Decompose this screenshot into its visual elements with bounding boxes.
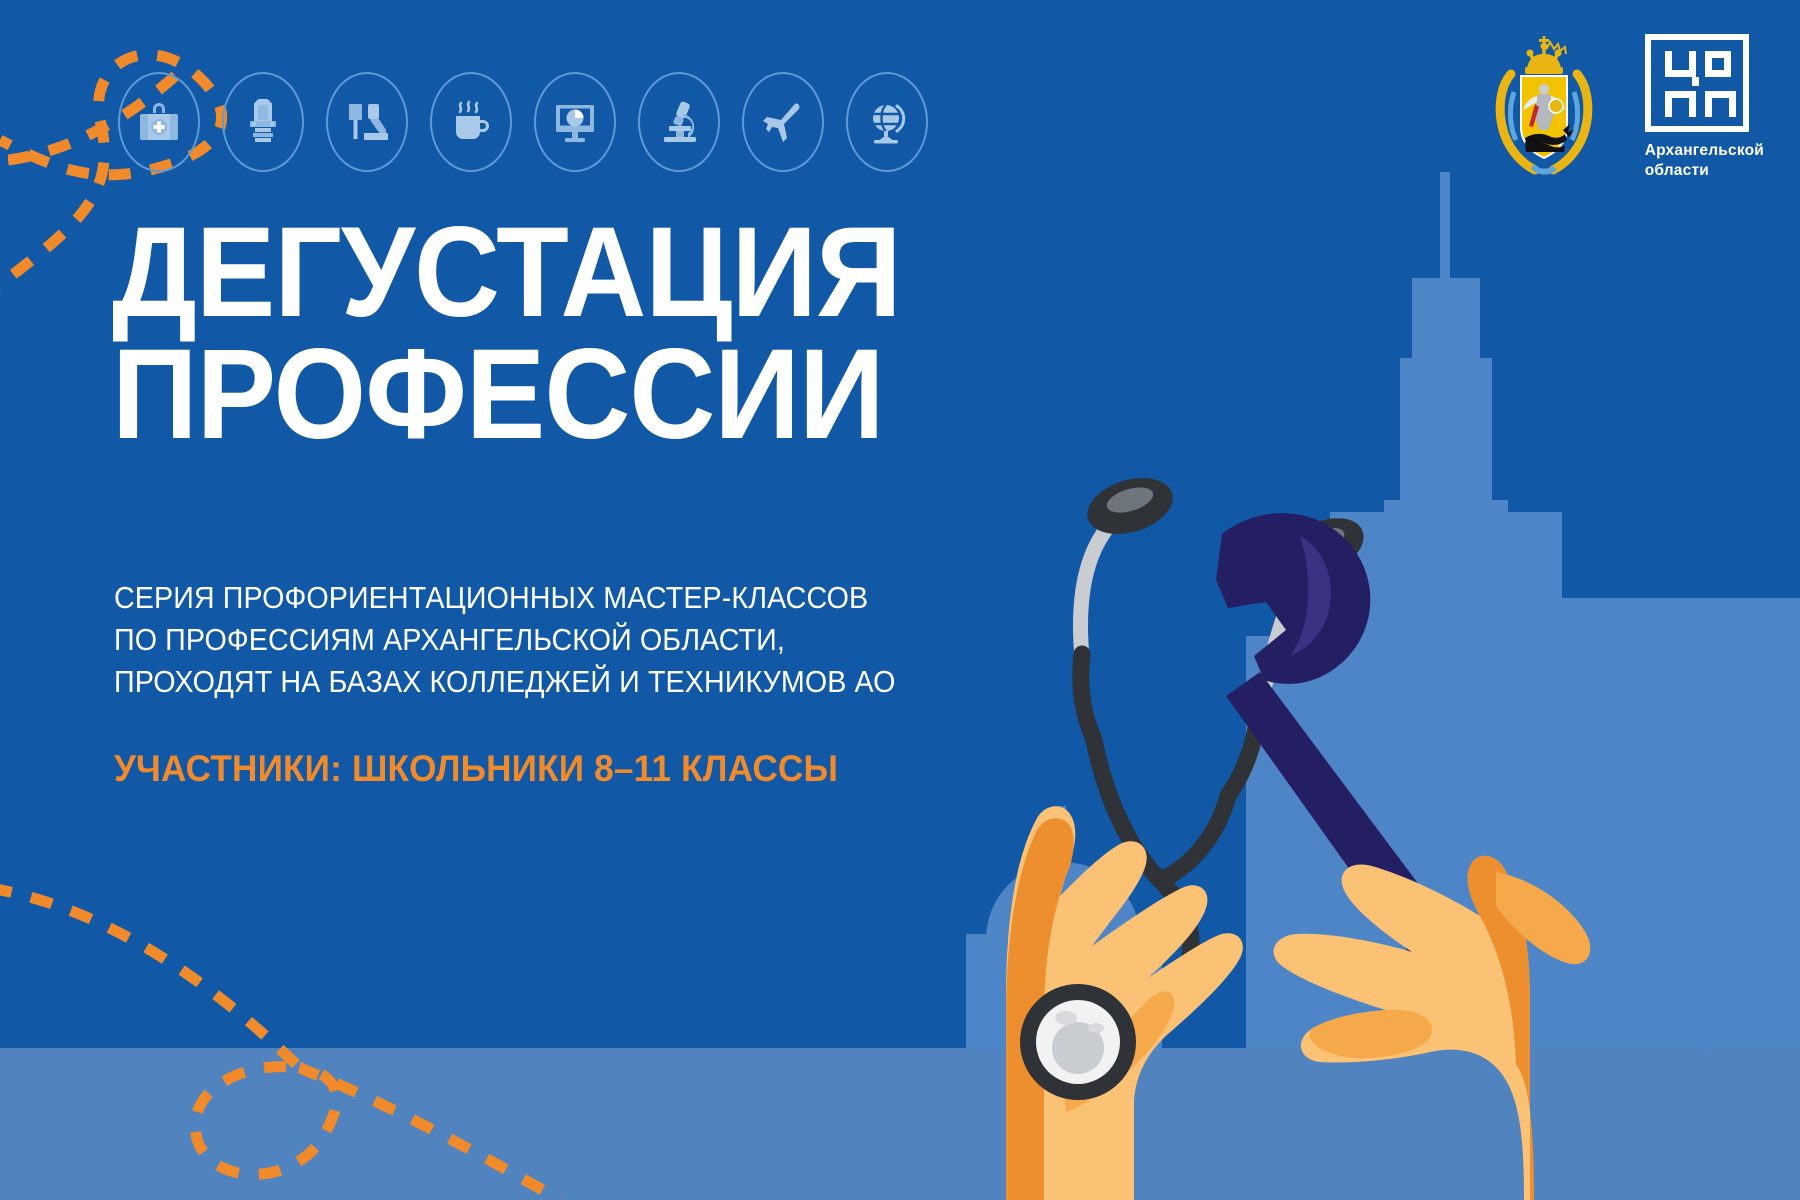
coat-of-arms-icon bbox=[1481, 34, 1607, 184]
icon-bubble-monitor-chart[interactable] bbox=[534, 72, 616, 172]
monitor-chart-icon bbox=[552, 100, 598, 144]
participants-line: УЧАСТНИКИ: ШКОЛЬНИКИ 8–11 КЛАССЫ bbox=[114, 748, 838, 790]
airplane-icon bbox=[760, 99, 806, 145]
poster-canvas: Архангельской области ДЕГУСТАЦИЯ ПРОФЕСС… bbox=[0, 0, 1800, 1200]
logo-group: Архангельской области bbox=[1481, 34, 1764, 184]
hand-holding-wrench bbox=[1274, 856, 1591, 1200]
construction-tools-icon bbox=[344, 100, 390, 144]
icon-bubble-medical-bag[interactable] bbox=[118, 72, 200, 172]
microscope-icon bbox=[656, 99, 702, 145]
icon-bubble-coffee-cup[interactable] bbox=[430, 72, 512, 172]
hands-illustration bbox=[830, 440, 1800, 1200]
copp-logo: Архангельской области bbox=[1645, 34, 1764, 181]
icon-bubble-theodolite[interactable] bbox=[222, 72, 304, 172]
tower-top-silhouette bbox=[1412, 278, 1480, 358]
theodolite-icon bbox=[241, 99, 285, 145]
globe-icon bbox=[864, 99, 910, 145]
title-line-1: ДЕГУСТАЦИЯ bbox=[112, 212, 1061, 334]
icon-bubble-airplane[interactable] bbox=[742, 72, 824, 172]
title-line-2: ПРОФЕССИИ bbox=[112, 334, 1061, 456]
profession-icon-row bbox=[118, 72, 928, 172]
page-title: ДЕГУСТАЦИЯ ПРОФЕССИИ bbox=[112, 212, 1061, 456]
stethoscope-chestpiece bbox=[1020, 984, 1136, 1100]
icon-bubble-construction-tools[interactable] bbox=[326, 72, 408, 172]
copp-region-line1: Архангельской bbox=[1645, 141, 1764, 161]
copp-region-line2: области bbox=[1645, 161, 1764, 181]
medical-bag-icon bbox=[136, 99, 182, 145]
copp-mark-icon bbox=[1645, 34, 1749, 132]
icon-bubble-globe[interactable] bbox=[846, 72, 928, 172]
tower-spire-silhouette bbox=[1440, 172, 1450, 280]
icon-bubble-microscope[interactable] bbox=[638, 72, 720, 172]
coffee-cup-icon bbox=[448, 99, 494, 145]
